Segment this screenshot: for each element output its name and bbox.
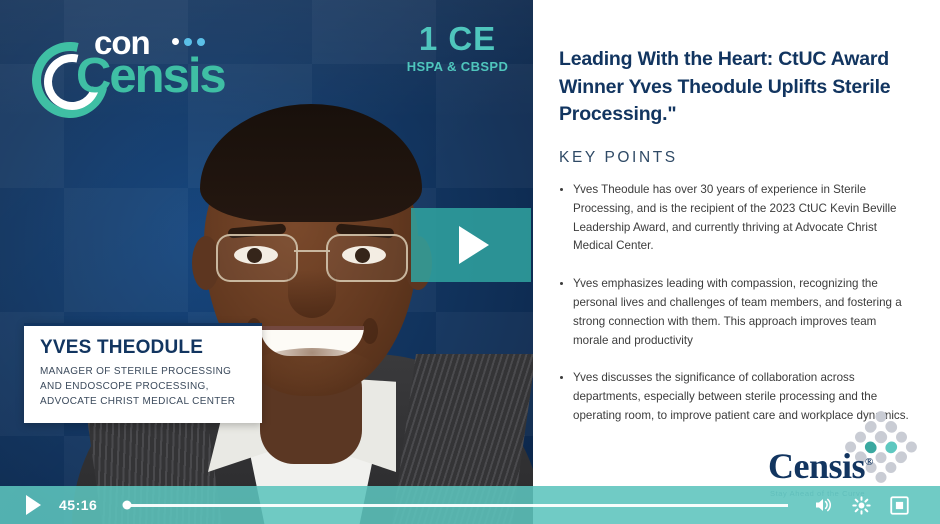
video-player[interactable]: Censis con 1 CE HSPA & CBSPD xyxy=(0,0,940,524)
list-item: Yves Theodule has over 30 years of exper… xyxy=(559,181,910,256)
ce-accreditors: HSPA & CBSPD xyxy=(380,59,533,74)
three-dots-icon xyxy=(172,38,205,46)
trademark-symbol: ® xyxy=(865,456,873,468)
key-points-panel: Leading With the Heart: CtUC Award Winne… xyxy=(533,0,940,524)
player-control-bar[interactable]: 45:16 xyxy=(0,486,940,524)
speaker-role-line-3: ADVOCATE CHRIST MEDICAL CENTER xyxy=(40,394,248,409)
speaker-name-card: YVES THEODULE MANAGER OF STERILE PROCESS… xyxy=(24,323,262,423)
volume-icon[interactable] xyxy=(810,492,836,518)
speaker-portrait-photo xyxy=(92,86,512,524)
speaker-role-line-2: AND ENDOSCOPE PROCESSING, xyxy=(40,379,248,394)
censis-wordmark-text: Censis xyxy=(768,446,865,486)
play-triangle-icon xyxy=(459,226,489,264)
speaker-name: YVES THEODULE xyxy=(40,338,248,359)
list-item: Yves discusses the significance of colla… xyxy=(559,369,910,425)
page-title: Leading With the Heart: CtUC Award Winne… xyxy=(559,46,910,129)
gear-icon[interactable] xyxy=(848,492,874,518)
key-points-list: Yves Theodule has over 30 years of exper… xyxy=(559,181,910,426)
play-icon[interactable] xyxy=(26,495,41,515)
ce-credit-count: 1 CE xyxy=(380,22,533,57)
progress-knob[interactable] xyxy=(123,501,132,510)
logo-con-word: con xyxy=(94,26,150,59)
list-item: Yves emphasizes leading with compassion,… xyxy=(559,275,910,350)
center-play-button[interactable] xyxy=(411,208,531,282)
key-points-heading: KEY POINTS xyxy=(559,149,910,167)
speaker-role: MANAGER OF STERILE PROCESSING AND ENDOSC… xyxy=(40,364,248,409)
ce-badge: 1 CE HSPA & CBSPD xyxy=(380,22,533,74)
progress-bar[interactable] xyxy=(127,504,788,507)
censis-wordmark: Censis® xyxy=(768,448,873,484)
time-display: 45:16 xyxy=(59,497,105,513)
fullscreen-icon[interactable] xyxy=(886,492,912,518)
speaker-role-line-1: MANAGER OF STERILE PROCESSING xyxy=(40,364,248,379)
